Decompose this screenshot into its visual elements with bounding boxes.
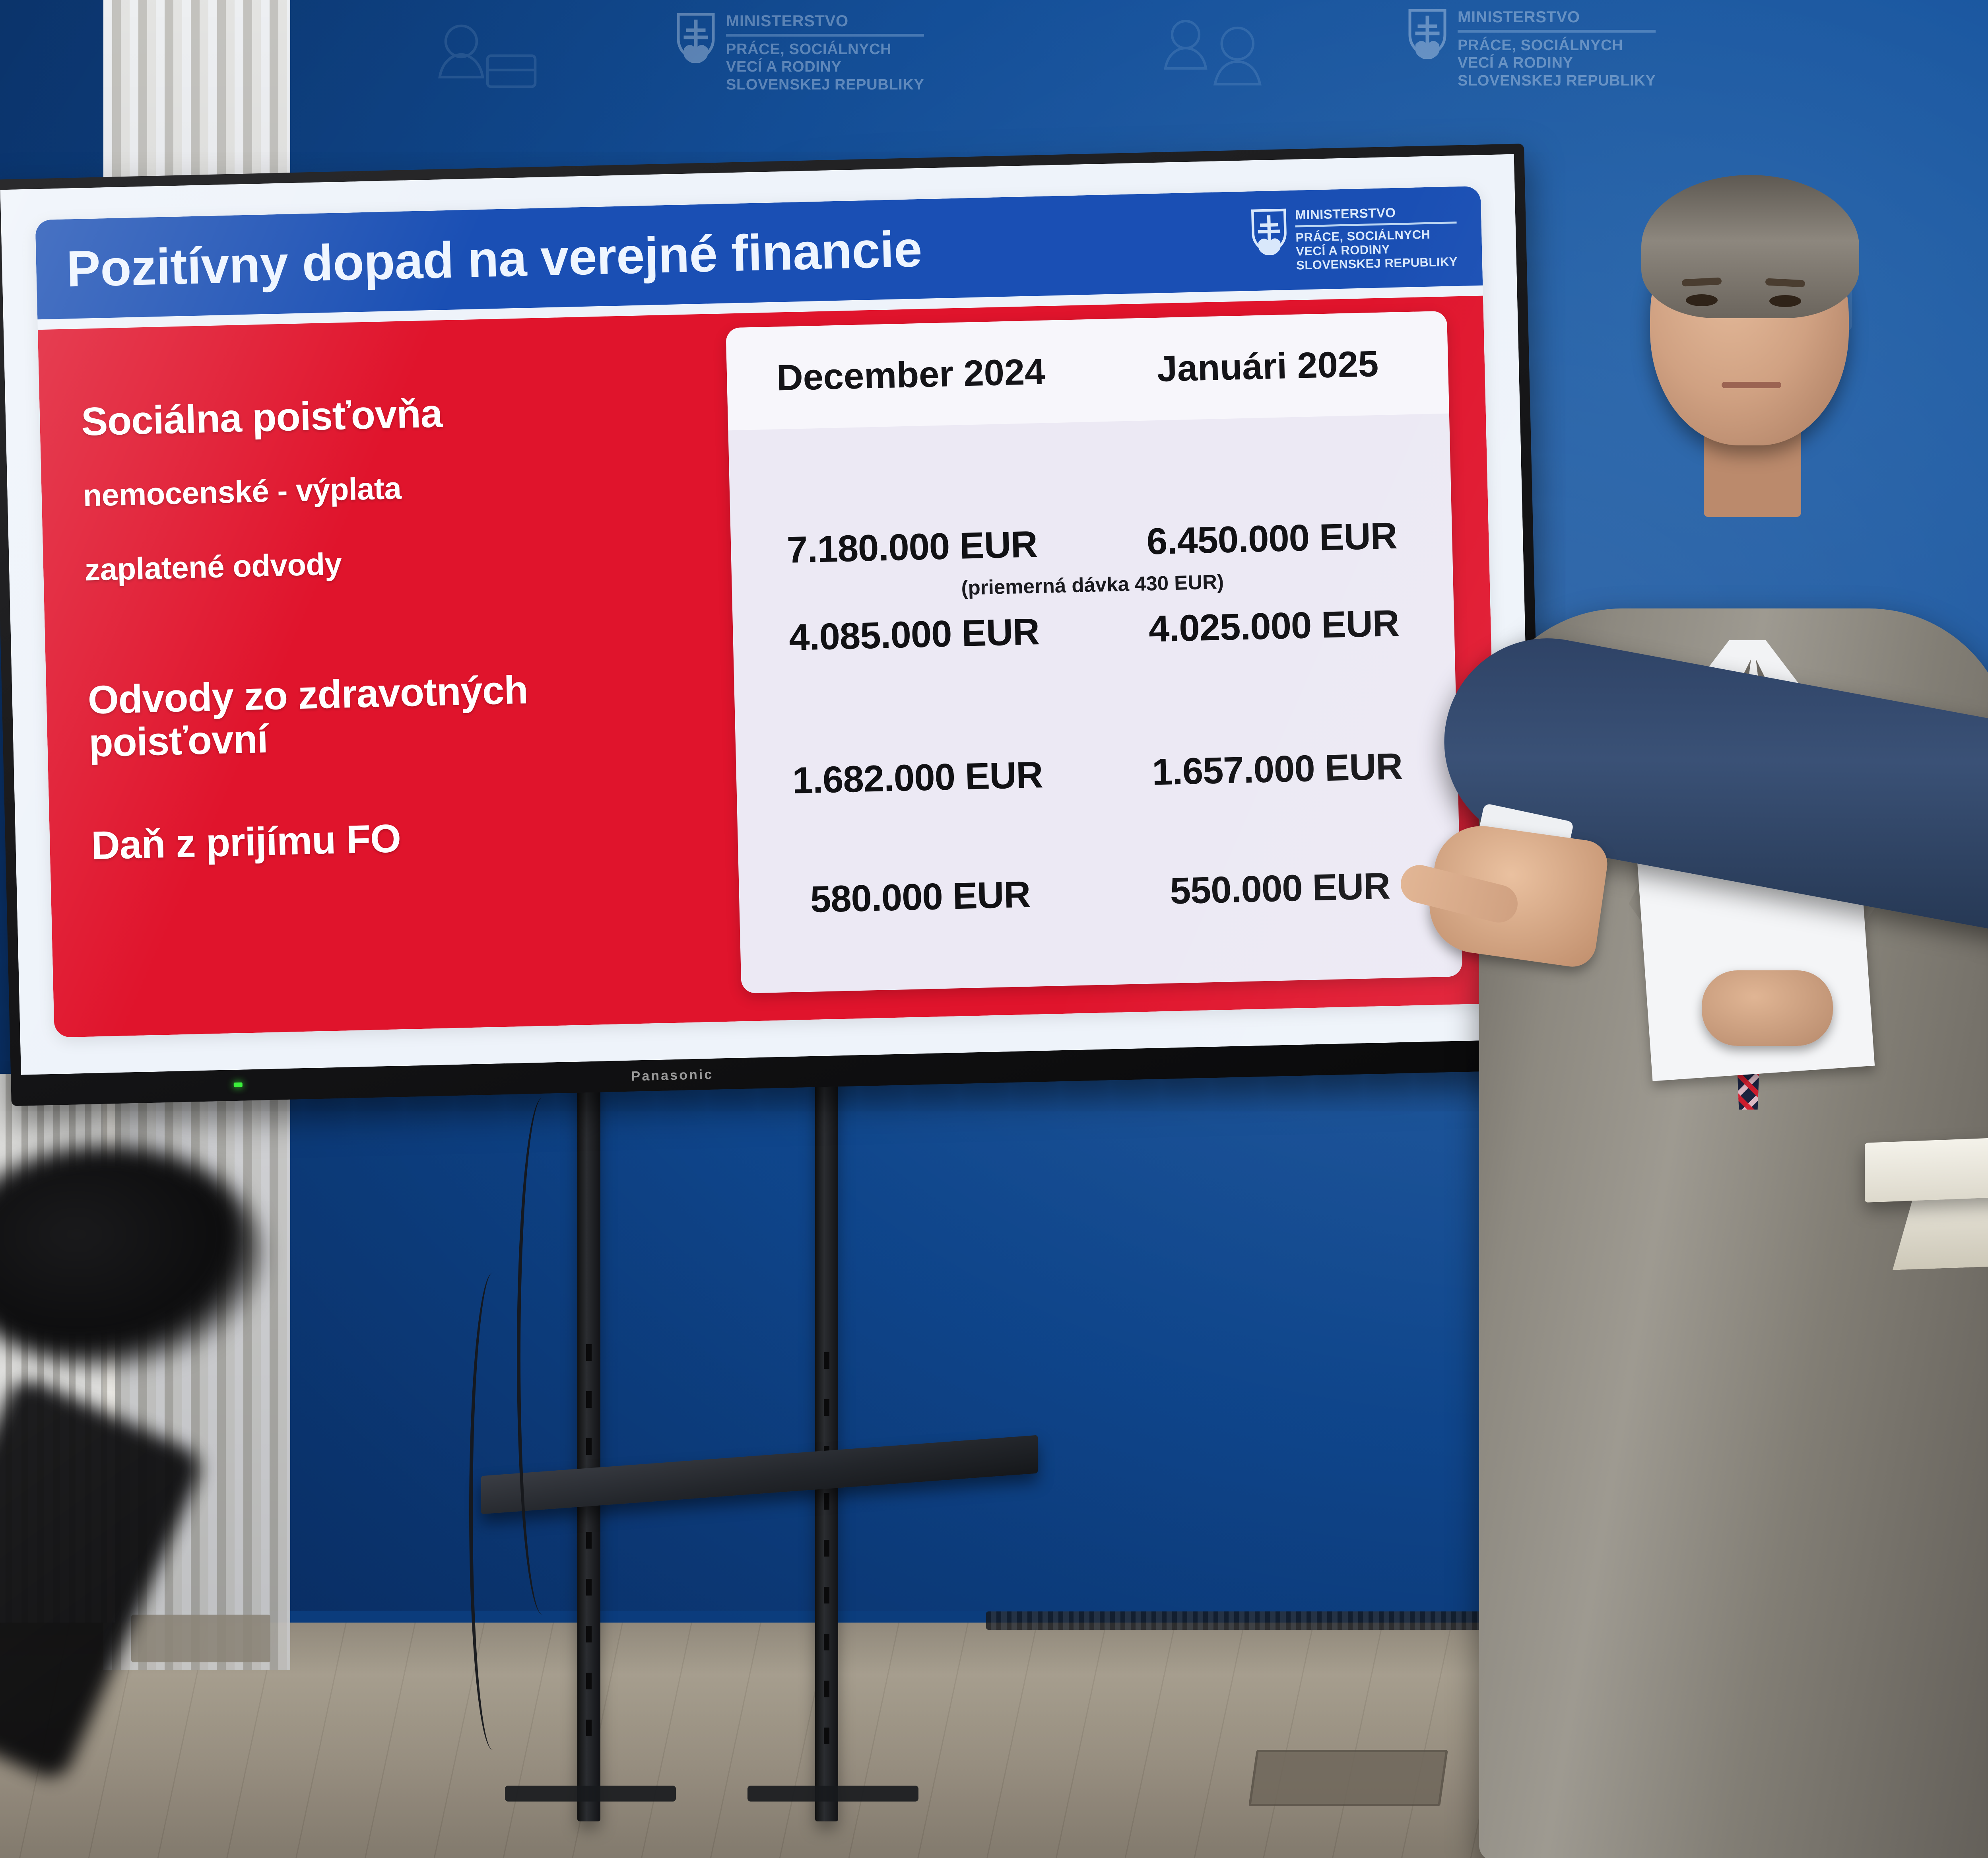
cell-december-r3: 1.682.000 EUR bbox=[736, 752, 1097, 803]
cell-december-r4: 580.000 EUR bbox=[739, 871, 1100, 923]
slide-title: Pozitívny dopad na verejné financie bbox=[66, 220, 923, 298]
table-row: 4.085.000 EUR 4.025.000 EUR bbox=[732, 601, 1454, 661]
clasped-hands bbox=[1702, 970, 1833, 1046]
table-row: 7.180.000 EUR 6.450.000 EUR bbox=[730, 513, 1452, 573]
press-conference-photo: MINISTERSTVO PRÁCE, SOCIÁLNYCH VECÍ A RO… bbox=[0, 0, 1988, 1858]
slide-labels-column: Sociálna poisťovňa nemocenské - výplata … bbox=[38, 313, 742, 1037]
logo-rule bbox=[1295, 222, 1457, 227]
slide-header-logo: MINISTERSTVO PRÁCE, SOCIÁLNYCH VECÍ A RO… bbox=[1250, 204, 1458, 274]
presentation-slide: Pozitívny dopad na verejné financie MINI… bbox=[0, 154, 1535, 1075]
tv-power-led bbox=[234, 1083, 243, 1088]
slide-body: Sociálna poisťovňa nemocenské - výplata … bbox=[38, 296, 1500, 1038]
power-cable bbox=[469, 1273, 516, 1750]
curtain-base bbox=[131, 1615, 270, 1662]
floor-hatch bbox=[1248, 1750, 1448, 1806]
cell-januar-r3: 1.657.000 EUR bbox=[1097, 743, 1458, 795]
tv-stand-foot-left bbox=[505, 1786, 676, 1802]
table-col-header-december: December 2024 bbox=[726, 350, 1088, 400]
cell-januar-r1: 6.450.000 EUR bbox=[1091, 513, 1452, 564]
hair bbox=[1641, 175, 1859, 318]
eye-left bbox=[1686, 294, 1718, 306]
slide-table-column: December 2024 Januári 2025 7.180.000 EUR… bbox=[725, 296, 1499, 1021]
tv-brand-label: Panasonic bbox=[631, 1067, 714, 1084]
slide-logo-line1: MINISTERSTVO bbox=[1295, 204, 1457, 222]
tv-screen: Pozitívny dopad na verejné financie MINI… bbox=[0, 154, 1535, 1075]
table-col-header-januar: Januári 2025 bbox=[1087, 341, 1448, 391]
table-row: 1.682.000 EUR 1.657.000 EUR bbox=[736, 743, 1458, 803]
table-body: 7.180.000 EUR 6.450.000 EUR (priemerná d… bbox=[728, 414, 1462, 993]
mouth bbox=[1722, 382, 1781, 388]
figures-table: December 2024 Januári 2025 7.180.000 EUR… bbox=[726, 311, 1462, 993]
cell-december-r1: 7.180.000 EUR bbox=[730, 521, 1092, 573]
cell-december-r2: 4.085.000 EUR bbox=[732, 609, 1094, 660]
table-header-row: December 2024 Januári 2025 bbox=[726, 311, 1449, 431]
slide-card: Pozitívny dopad na verejné financie MINI… bbox=[35, 186, 1499, 1038]
presentation-tv: Pozitívny dopad na verejné financie MINI… bbox=[0, 144, 1546, 1106]
power-cable bbox=[517, 1098, 568, 1615]
table-row: 580.000 EUR 550.000 EUR bbox=[739, 863, 1461, 923]
eye-right bbox=[1769, 295, 1801, 307]
slovak-coat-of-arms-icon bbox=[1250, 208, 1288, 255]
cell-januar-r2: 4.025.000 EUR bbox=[1093, 601, 1454, 652]
table-note-priemerna-davka: (priemerná dávka 430 EUR) bbox=[732, 565, 1453, 605]
tv-stand-foot-right bbox=[747, 1786, 918, 1802]
tv-stand-column-right bbox=[815, 1042, 838, 1821]
tv-stand-column-left bbox=[577, 1034, 600, 1821]
